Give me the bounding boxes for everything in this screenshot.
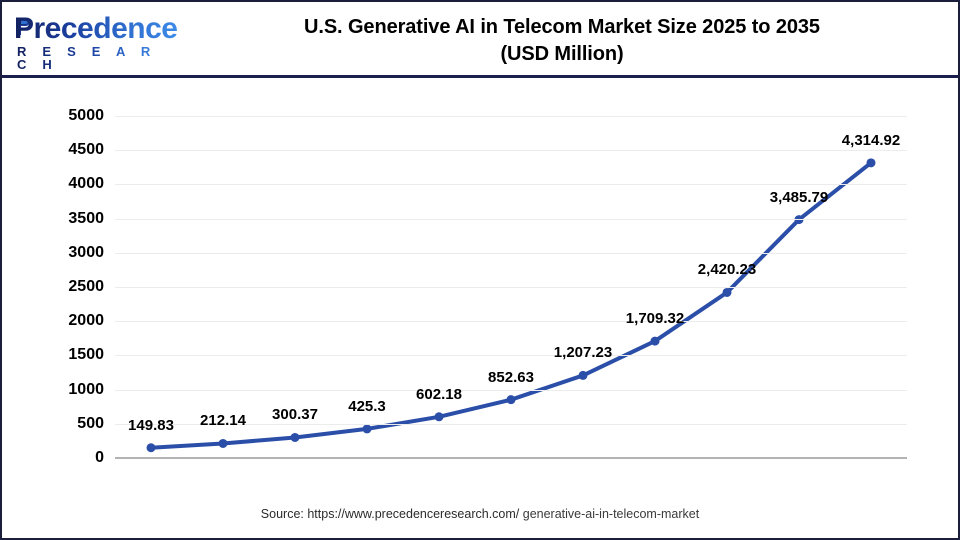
gridline [115,184,907,185]
y-axis-tick: 2000 [40,312,104,330]
page-title-line-2: (USD Million) [192,41,932,68]
gridline [115,355,907,356]
data-point-marker[interactable] [147,443,156,452]
plot-canvas: 149.83212.14300.37425.3602.18852.631,207… [115,78,907,538]
gridline [115,116,907,117]
y-axis-labels: 5000450040003500300025002000150010005000 [40,78,104,538]
page-title-line-1: U.S. Generative AI in Telecom Market Siz… [192,14,932,41]
gridline [115,321,907,322]
chart-page: Precedence R E S E A R C H U.S. Generati… [0,0,960,540]
data-point-marker[interactable] [291,433,300,442]
series-line [151,163,871,448]
logo-wordmark: Precedence [14,14,177,44]
source-slug: generative-ai-in-telecom-market [523,507,699,521]
data-point-marker[interactable] [363,424,372,433]
data-point-label: 3,485.79 [770,189,828,206]
logo-subtitle: R E S E A R C H [17,45,174,71]
chart-area: 5000450040003500300025002000150010005000… [2,78,958,538]
y-axis-tick: 5000 [40,107,104,125]
precedence-research-logo: Precedence R E S E A R C H [14,14,174,68]
y-axis-tick: 500 [40,415,104,433]
data-point-marker[interactable] [219,439,228,448]
y-axis-tick: 2500 [40,278,104,296]
y-axis-tick: 3500 [40,210,104,228]
source-caption: Source: https://www.precedenceresearch.c… [2,507,958,521]
x-axis-line [115,457,907,459]
gridline [115,219,907,220]
data-point-label: 4,314.92 [842,132,900,149]
gridline [115,253,907,254]
data-point-marker[interactable] [507,395,516,404]
data-point-marker[interactable] [651,337,660,346]
source-url: Source: https://www.precedenceresearch.c… [261,507,519,521]
y-axis-tick: 1000 [40,381,104,399]
data-point-marker[interactable] [867,158,876,167]
data-point-marker[interactable] [723,288,732,297]
data-point-label: 425.3 [348,398,386,415]
data-point-label: 212.14 [200,412,246,429]
data-point-label: 2,420.23 [698,261,756,278]
data-point-label: 300.37 [272,406,318,423]
data-point-label: 1,709.32 [626,310,684,327]
gridline [115,287,907,288]
line-series [115,78,907,538]
data-point-label: 149.83 [128,417,174,434]
data-point-label: 602.18 [416,386,462,403]
data-point-label: 852.63 [488,369,534,386]
y-axis-tick: 4500 [40,141,104,159]
data-point-label: 1,207.23 [554,344,612,361]
data-point-marker[interactable] [579,371,588,380]
gridline [115,390,907,391]
y-axis-tick: 4000 [40,175,104,193]
page-title: U.S. Generative AI in Telecom Market Siz… [192,14,932,68]
data-point-marker[interactable] [435,412,444,421]
y-axis-tick: 1500 [40,346,104,364]
page-header: Precedence R E S E A R C H U.S. Generati… [2,2,958,78]
y-axis-tick: 0 [40,449,104,467]
y-axis-tick: 3000 [40,244,104,262]
gridline [115,150,907,151]
